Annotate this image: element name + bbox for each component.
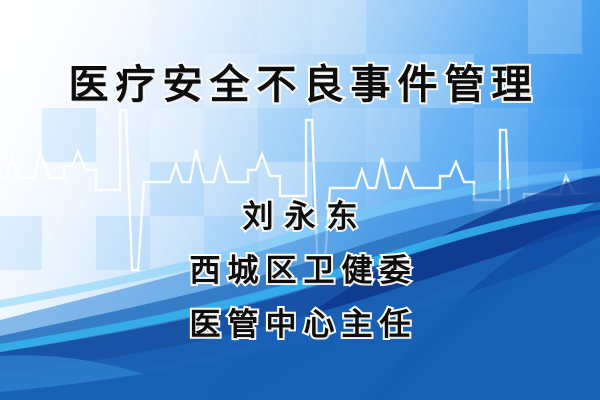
- title-slide: 医疗安全不良事件管理 刘永东 西城区卫健委 医管中心主任: [0, 0, 600, 400]
- page-title: 医疗安全不良事件管理: [0, 62, 600, 108]
- presenter-role: 医管中心主任: [0, 306, 600, 344]
- presenter-organization: 西城区卫健委: [0, 252, 600, 290]
- slide-text-layer: 医疗安全不良事件管理 刘永东 西城区卫健委 医管中心主任: [0, 0, 600, 400]
- presenter-name: 刘永东: [0, 198, 600, 236]
